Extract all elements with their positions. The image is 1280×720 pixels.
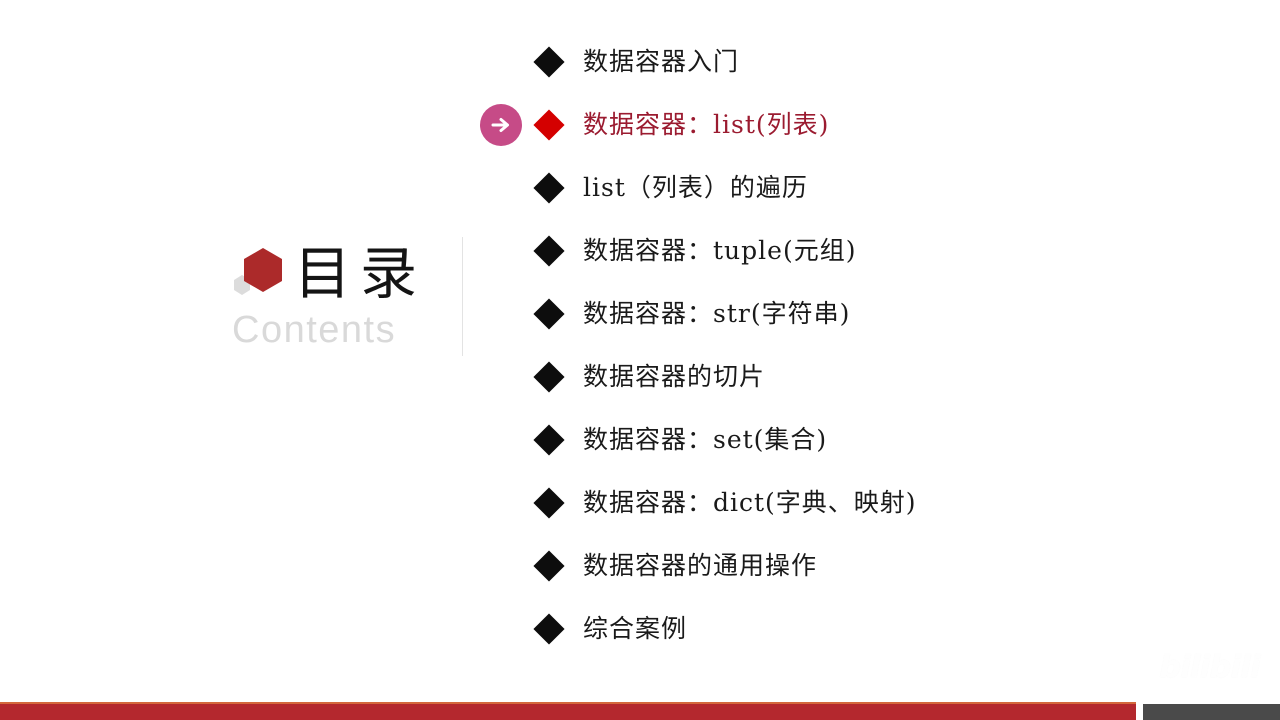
- footer-bar-red: [0, 702, 1136, 720]
- title-cn-row: 目录: [294, 236, 464, 312]
- list-item[interactable]: 数据容器：dict(字典、映射): [520, 471, 1220, 534]
- list-item[interactable]: 数据容器入门: [520, 30, 1220, 93]
- diamond-bullet-icon: [533, 550, 564, 581]
- list-item[interactable]: 数据容器：str(字符串): [520, 282, 1220, 345]
- list-item-label: 数据容器：dict(字典、映射): [583, 488, 917, 518]
- hexagon-logo-icon: [232, 242, 290, 300]
- diamond-bullet-icon: [533, 235, 564, 266]
- list-item-label: 数据容器：list(列表): [583, 110, 829, 140]
- list-item-label: 数据容器的通用操作: [583, 551, 817, 581]
- list-item-label: 数据容器入门: [583, 47, 739, 77]
- diamond-bullet-icon: [533, 361, 564, 392]
- list-item[interactable]: 数据容器的通用操作: [520, 534, 1220, 597]
- list-item-label: 数据容器的切片: [583, 362, 765, 392]
- diamond-bullet-icon: [533, 424, 564, 455]
- diamond-bullet-icon: [533, 613, 564, 644]
- list-item[interactable]: list（列表）的遍历: [520, 156, 1220, 219]
- list-item-label: 数据容器：set(集合): [583, 425, 827, 455]
- list-item-label: 综合案例: [583, 614, 687, 644]
- list-item-label: 数据容器：str(字符串): [583, 299, 850, 329]
- diamond-bullet-icon: [533, 109, 564, 140]
- list-item[interactable]: 综合案例: [520, 597, 1220, 660]
- page-title-en: Contents: [232, 310, 396, 352]
- list-item[interactable]: 数据容器的切片: [520, 345, 1220, 408]
- list-item-label: 数据容器：tuple(元组): [583, 236, 856, 266]
- list-item-label: list（列表）的遍历: [583, 173, 808, 203]
- table-of-contents: 数据容器入门 数据容器：list(列表) list（列表）的遍历 数据容器：tu…: [520, 30, 1220, 660]
- diamond-bullet-icon: [533, 298, 564, 329]
- diamond-bullet-icon: [533, 46, 564, 77]
- list-item[interactable]: 数据容器：set(集合): [520, 408, 1220, 471]
- diamond-bullet-icon: [533, 172, 564, 203]
- slide-title-block: 目录 Contents: [228, 236, 460, 358]
- bilibili-watermark: bilibili: [1159, 650, 1260, 685]
- diamond-bullet-icon: [533, 487, 564, 518]
- list-item[interactable]: 数据容器：tuple(元组): [520, 219, 1220, 282]
- footer-bar-gray: [1143, 704, 1280, 720]
- page-title-cn: 目录: [294, 246, 426, 303]
- arrow-right-circle-icon: [480, 104, 522, 146]
- presentation-slide: 目录 Contents 数据容器入门 数据容器：list(列表) list（列表…: [0, 0, 1280, 720]
- vertical-divider: [462, 237, 463, 356]
- list-item-active[interactable]: 数据容器：list(列表): [520, 93, 1220, 156]
